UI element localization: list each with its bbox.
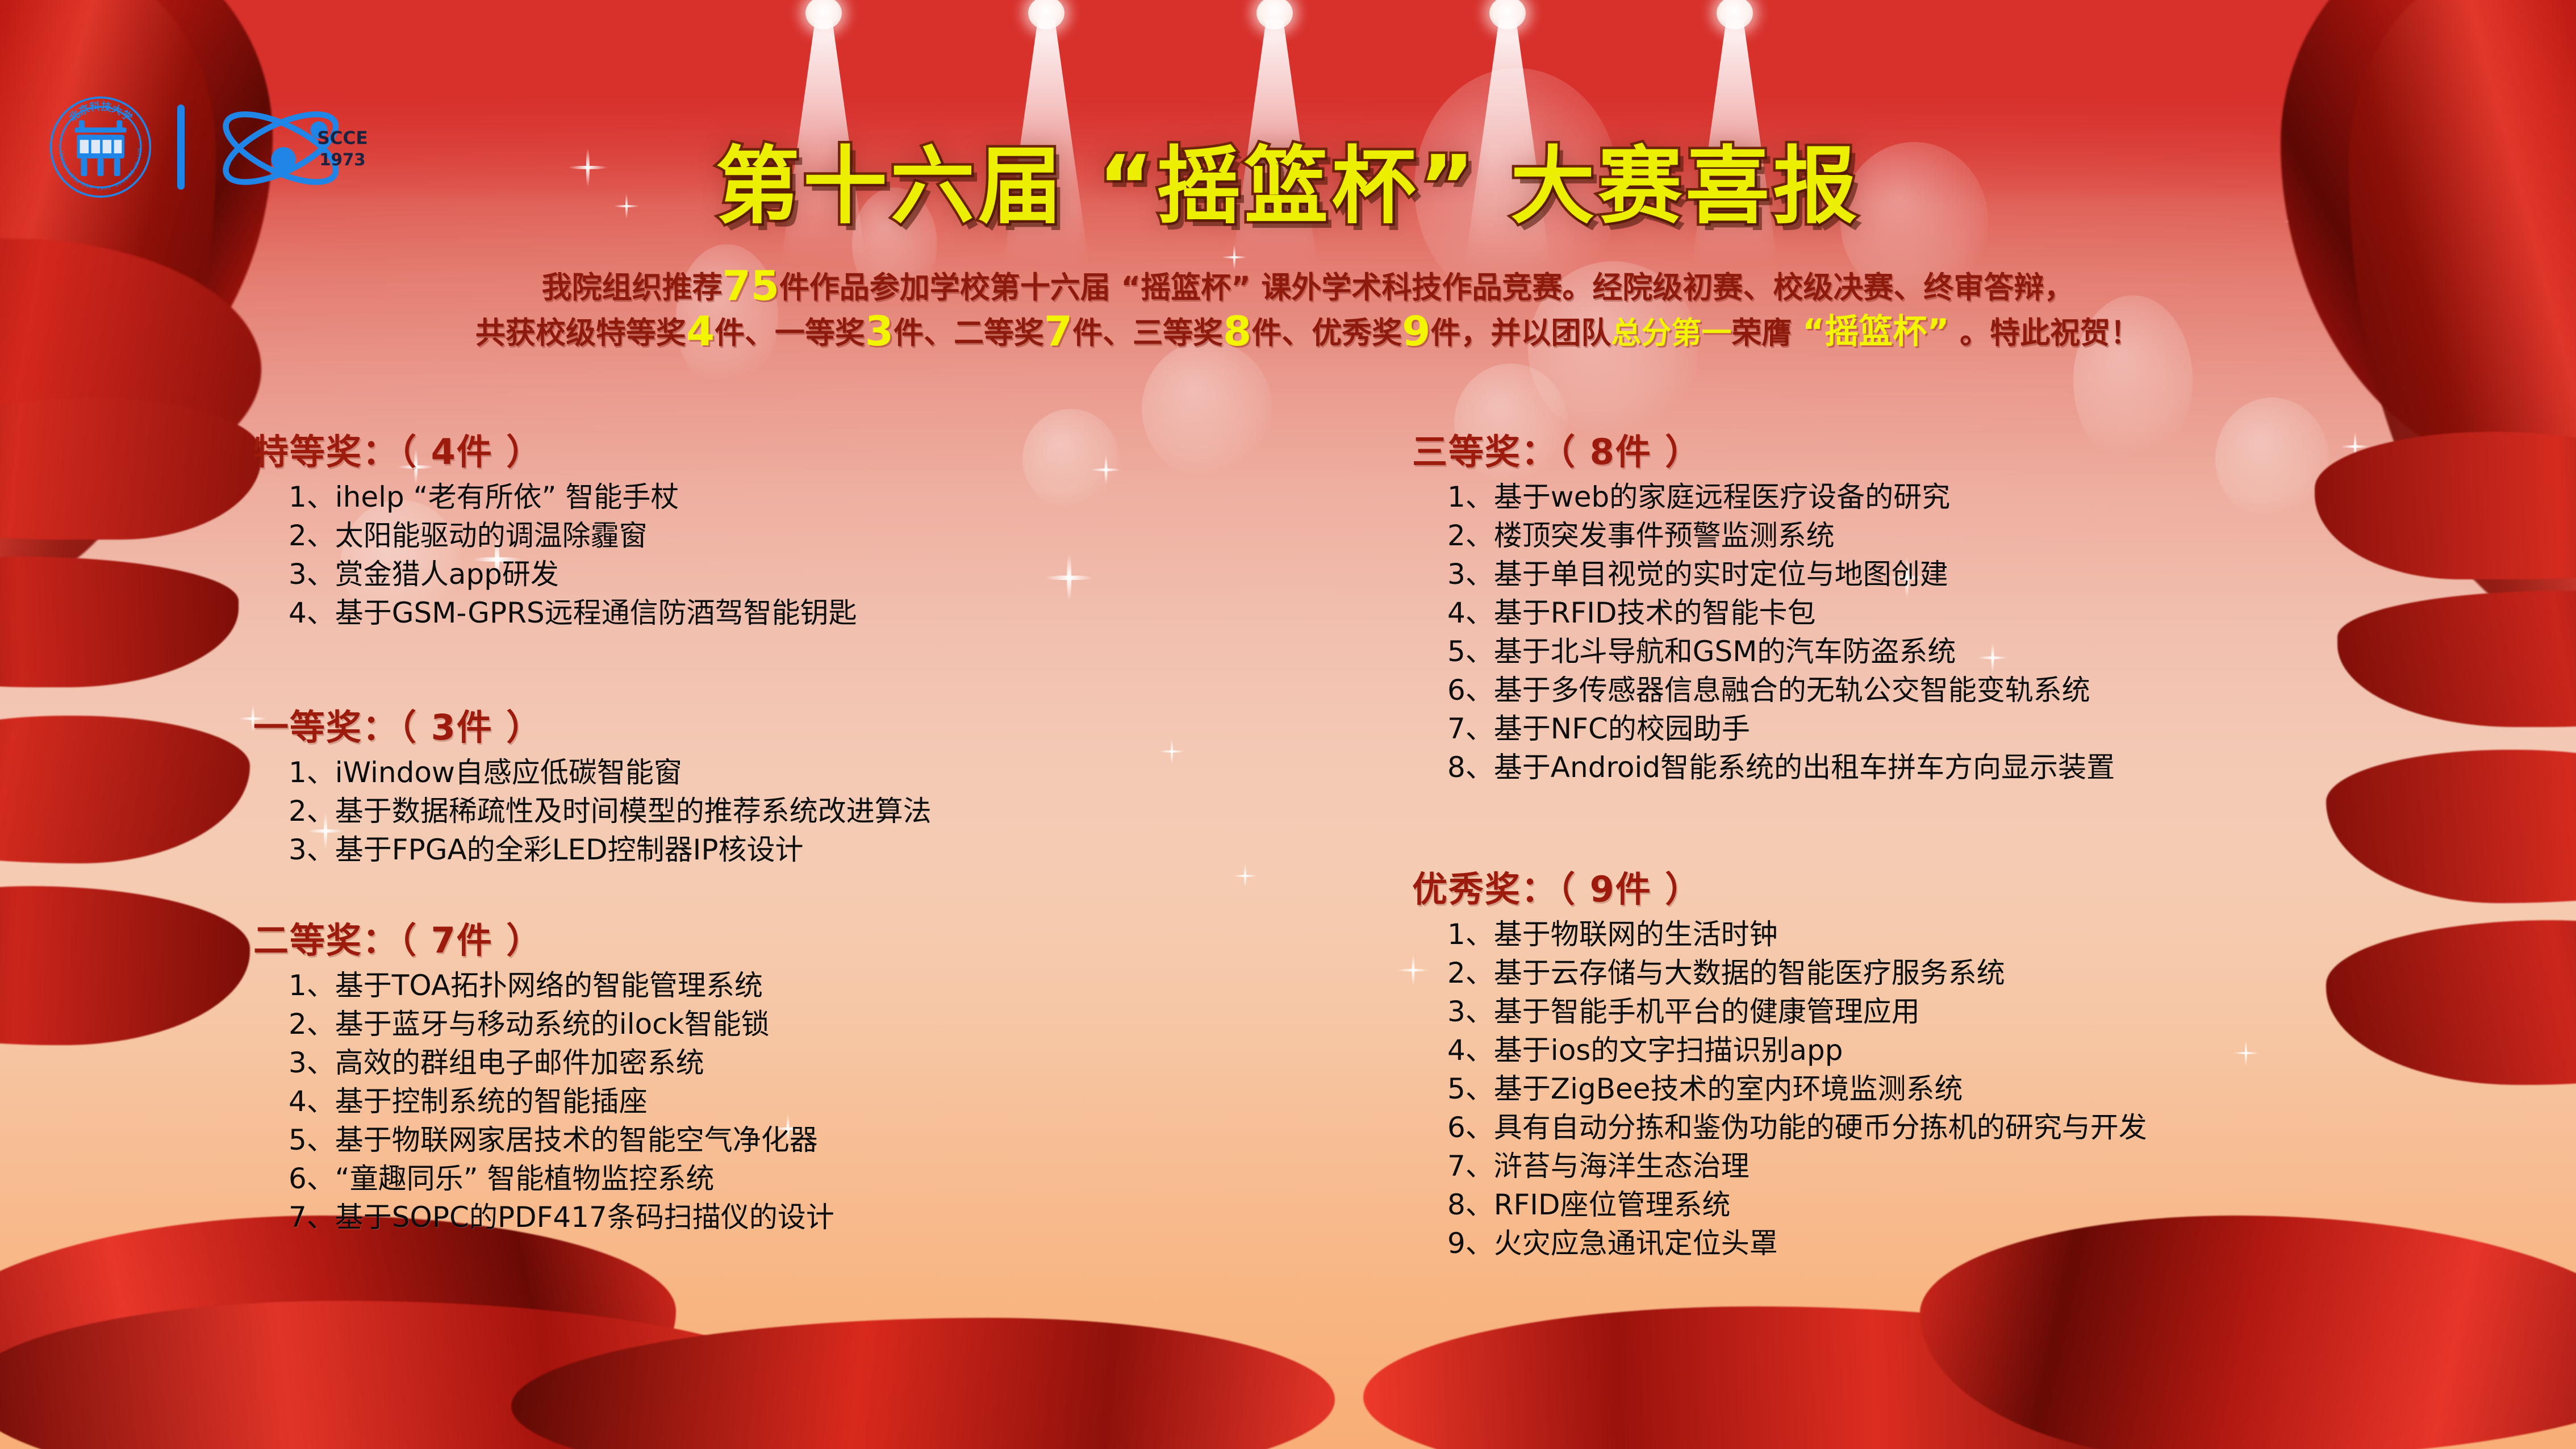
ribbon-swirl	[2326, 750, 2576, 903]
intro-count-third: 8	[1223, 307, 1251, 355]
list-item: 6、具有自动分拣和鉴伪功能的硬币分拣机的研究与开发	[1447, 1108, 2147, 1147]
list-item: 2、基于云存储与大数据的智能医疗服务系统	[1447, 954, 2147, 992]
intro-highlight-rank: 总分第一	[1611, 316, 1731, 350]
list-item: 3、赏金猎人app研发	[289, 555, 857, 594]
award-list-excellent: 1、基于物联网的生活时钟 2、基于云存储与大数据的智能医疗服务系统 3、基于智能…	[1403, 915, 2147, 1263]
award-block-special: 特等奖：（ 4件 ） 1、ihelp “老有所依” 智能手杖 2、太阳能驱动的调…	[244, 423, 857, 632]
intro-text: 。特此祝贺！	[1949, 316, 2140, 350]
ribbon-swirl	[0, 886, 250, 1045]
intro-text: 件、一等奖	[715, 316, 865, 350]
ribbon-swirl	[0, 398, 261, 540]
list-item: 1、iWindow自感应低碳智能窗	[289, 753, 932, 792]
list-item: 2、基于蓝牙与移动系统的ilock智能锁	[289, 1005, 834, 1043]
list-item: 6、“童趣同乐” 智能植物监控系统	[289, 1159, 834, 1198]
list-item: 8、基于Android智能系统的出租车拼车方向显示装置	[1447, 748, 2115, 787]
list-item: 7、基于NFC的校园助手	[1447, 709, 2115, 748]
intro-text: 件、二等奖	[894, 316, 1044, 350]
poster-canvas: 北京科技大学 UNIVERSITY OF SCIENCE ·1952· AND …	[0, 0, 2576, 1449]
intro-text: 件、三等奖	[1072, 316, 1223, 350]
award-list-second: 1、基于TOA拓扑网络的智能管理系统 2、基于蓝牙与移动系统的ilock智能锁 …	[244, 966, 834, 1237]
sparkle-star	[1233, 863, 1258, 888]
ribbon-swirl	[2337, 591, 2576, 727]
intro-count-excellent: 9	[1402, 307, 1430, 355]
list-item: 5、基于北斗导航和GSM的汽车防盗系统	[1447, 632, 2115, 671]
bokeh-circle	[1142, 341, 1272, 477]
intro-line-2: 共获校级特等奖4件、一等奖3件、二等奖7件、三等奖8件、优秀奖9件，并以团队总分…	[267, 308, 2349, 356]
intro-text: 件，并以团队	[1430, 316, 1611, 350]
ribbon-swirl	[0, 716, 250, 863]
intro-count-first: 3	[865, 307, 894, 355]
list-item: 1、ihelp “老有所依” 智能手杖	[289, 478, 857, 516]
intro-highlight-cup: “摇篮杯”	[1802, 312, 1949, 352]
list-item: 2、基于数据稀疏性及时间模型的推荐系统改进算法	[289, 792, 932, 830]
list-item: 7、基于SOPC的PDF417条码扫描仪的设计	[289, 1198, 834, 1237]
award-heading-special: 特等奖：（ 4件 ）	[244, 423, 857, 474]
award-block-second: 二等奖：（ 7件 ） 1、基于TOA拓扑网络的智能管理系统 2、基于蓝牙与移动系…	[244, 912, 834, 1237]
award-heading-third: 三等奖：（ 8件 ）	[1403, 423, 2115, 474]
page-title: 第十六届 “摇篮杯” 大赛喜报	[0, 141, 2576, 232]
sparkle-star	[2232, 1039, 2260, 1067]
list-item: 8、RFID座位管理系统	[1447, 1185, 2147, 1224]
award-list-third: 1、基于web的家庭远程医疗设备的研究 2、楼顶突发事件预警监测系统 3、基于单…	[1403, 478, 2115, 787]
ribbon-swirl	[0, 557, 239, 687]
bokeh-circle	[1022, 409, 1119, 508]
ribbon-swirl	[511, 1318, 1335, 1449]
spotlight-lamp	[1489, 0, 1526, 30]
intro-paragraph: 我院组织推荐75件作品参加学校第十六届 “摇篮杯” 课外学术科技作品竞赛。经院级…	[267, 267, 2349, 356]
intro-text: 件、优秀奖	[1251, 316, 1402, 350]
award-block-first: 一等奖：（ 3件 ） 1、iWindow自感应低碳智能窗 2、基于数据稀疏性及时…	[244, 699, 932, 869]
sparkle-star	[1045, 554, 1093, 602]
award-block-excellent: 优秀奖：（ 9件 ） 1、基于物联网的生活时钟 2、基于云存储与大数据的智能医疗…	[1403, 861, 2147, 1263]
list-item: 7、浒苔与海洋生态治理	[1447, 1147, 2147, 1185]
award-list-first: 1、iWindow自感应低碳智能窗 2、基于数据稀疏性及时间模型的推荐系统改进算…	[244, 753, 932, 869]
spotlight-lamp	[1717, 0, 1753, 30]
spotlight-lamp	[1256, 0, 1293, 30]
list-item: 4、基于GSM-GPRS远程通信防酒驾智能钥匙	[289, 594, 857, 632]
intro-count-total: 75	[723, 262, 779, 310]
award-heading-first: 一等奖：（ 3件 ）	[244, 699, 932, 750]
list-item: 1、基于物联网的生活时钟	[1447, 915, 2147, 954]
list-item: 3、基于FPGA的全彩LED控制器IP核设计	[289, 830, 932, 869]
ribbon-swirl	[2326, 920, 2576, 1085]
list-item: 2、楼顶突发事件预警监测系统	[1447, 516, 2115, 555]
ribbon-swirl	[1363, 1306, 2215, 1449]
list-item: 3、高效的群组电子邮件加密系统	[289, 1043, 834, 1082]
list-item: 5、基于ZigBee技术的室内环境监测系统	[1447, 1070, 2147, 1108]
list-item: 1、基于web的家庭远程医疗设备的研究	[1447, 478, 2115, 516]
list-item: 4、基于RFID技术的智能卡包	[1447, 594, 2115, 632]
sparkle-star	[1159, 738, 1185, 765]
intro-text: 我院组织推荐	[542, 270, 723, 305]
list-item: 4、基于ios的文字扫描识别app	[1447, 1031, 2147, 1070]
list-item: 4、基于控制系统的智能插座	[289, 1082, 834, 1121]
spotlight-lamp	[805, 0, 842, 30]
list-item: 9、火灾应急通讯定位头罩	[1447, 1224, 2147, 1263]
intro-text: 共获校级特等奖	[475, 316, 686, 350]
intro-line-1: 我院组织推荐75件作品参加学校第十六届 “摇篮杯” 课外学术科技作品竞赛。经院级…	[267, 267, 2349, 308]
intro-count-second: 7	[1044, 307, 1072, 355]
award-heading-excellent: 优秀奖：（ 9件 ）	[1403, 861, 2147, 912]
list-item: 5、基于物联网家居技术的智能空气净化器	[289, 1121, 834, 1159]
list-item: 1、基于TOA拓扑网络的智能管理系统	[289, 966, 834, 1005]
award-heading-second: 二等奖：（ 7件 ）	[244, 912, 834, 963]
intro-count-special: 4	[686, 307, 715, 355]
sparkle-star	[1091, 454, 1121, 485]
ribbon-swirl	[2315, 432, 2576, 579]
spotlight-lamp	[1028, 0, 1064, 30]
list-item: 6、基于多传感器信息融合的无轨公交智能变轨系统	[1447, 671, 2115, 709]
intro-text: 荣膺	[1731, 316, 1802, 350]
list-item: 2、太阳能驱动的调温除霾窗	[289, 516, 857, 555]
list-item: 3、基于智能手机平台的健康管理应用	[1447, 992, 2147, 1031]
intro-text: 件作品参加学校第十六届 “摇篮杯” 课外学术科技作品竞赛。经院级初赛、校级决赛、…	[779, 270, 2074, 305]
list-item: 3、基于单目视觉的实时定位与地图创建	[1447, 555, 2115, 594]
award-list-special: 1、ihelp “老有所依” 智能手杖 2、太阳能驱动的调温除霾窗 3、赏金猎人…	[244, 478, 857, 632]
award-block-third: 三等奖：（ 8件 ） 1、基于web的家庭远程医疗设备的研究 2、楼顶突发事件预…	[1403, 423, 2115, 787]
